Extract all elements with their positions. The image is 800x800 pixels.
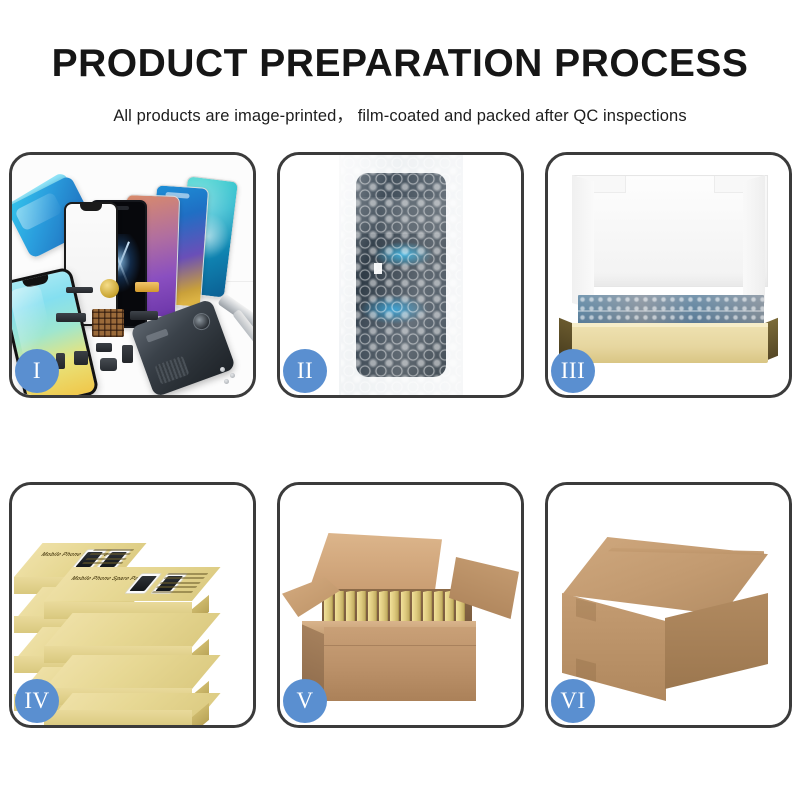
- page-title: PRODUCT PREPARATION PROCESS: [0, 0, 800, 83]
- film-sheen: [339, 155, 463, 395]
- product-preparation-page: PRODUCT PREPARATION PROCESS All products…: [0, 0, 800, 800]
- step-badge-4: IV: [15, 679, 59, 723]
- vibrator-part: [96, 343, 112, 352]
- step-panel-2[interactable]: II: [277, 152, 524, 398]
- speaker-coil-part: [100, 279, 119, 298]
- box-lid: [44, 655, 221, 689]
- loudspeaker-part: [100, 358, 117, 371]
- box-lid-back: [572, 175, 768, 287]
- step-badge-6: VI: [551, 679, 595, 723]
- step-badge-1: I: [15, 349, 59, 393]
- housing-label: [146, 329, 169, 343]
- logic-board-part: [92, 309, 124, 337]
- bracket-part: [74, 351, 88, 365]
- box-inner-left-wall: [572, 175, 594, 309]
- flex-cable-part-1: [135, 282, 159, 292]
- carton-crease: [324, 645, 476, 646]
- wrapped-screens-in-box: [578, 295, 764, 326]
- box-front: [44, 710, 192, 725]
- step-badge-2: II: [283, 349, 327, 393]
- carton-front-face: [324, 627, 476, 701]
- flex-cable-part-2: [56, 313, 86, 322]
- box-front-top-edge: [572, 323, 768, 327]
- flex-cable-part-3: [130, 311, 158, 320]
- stacked-box-front-4: [44, 693, 192, 725]
- camera-module-icon: [191, 311, 213, 333]
- box-lid-artwork: Mobile Phone Spare Parts: [44, 567, 221, 601]
- display-notch: [80, 204, 102, 211]
- box-front-panel: [572, 323, 768, 363]
- stacked-box-front-1: Mobile Phone Spare Parts: [44, 567, 192, 619]
- screw-part-3: [224, 379, 229, 384]
- step-panel-6[interactable]: VI: [545, 482, 792, 728]
- box-lid: [44, 613, 221, 647]
- step-panel-4[interactable]: Mobile Phone Spare Parts: [9, 482, 256, 728]
- earpiece-part: [66, 287, 93, 293]
- step-badge-5: V: [283, 679, 327, 723]
- box-inner-right-wall: [743, 175, 765, 309]
- page-subtitle: All products are image-printed， film-coa…: [0, 83, 800, 126]
- screw-part-2: [230, 373, 235, 378]
- camera-part: [122, 345, 133, 363]
- step-badge-3: III: [551, 349, 595, 393]
- step-panel-3[interactable]: III: [545, 152, 792, 398]
- step-panel-5[interactable]: V: [277, 482, 524, 728]
- screw-part-1: [220, 367, 225, 372]
- header: PRODUCT PREPARATION PROCESS All products…: [0, 0, 800, 126]
- battery-connector: [154, 356, 189, 385]
- step-panel-1[interactable]: I: [9, 152, 256, 398]
- process-steps-grid: I II: [9, 152, 791, 728]
